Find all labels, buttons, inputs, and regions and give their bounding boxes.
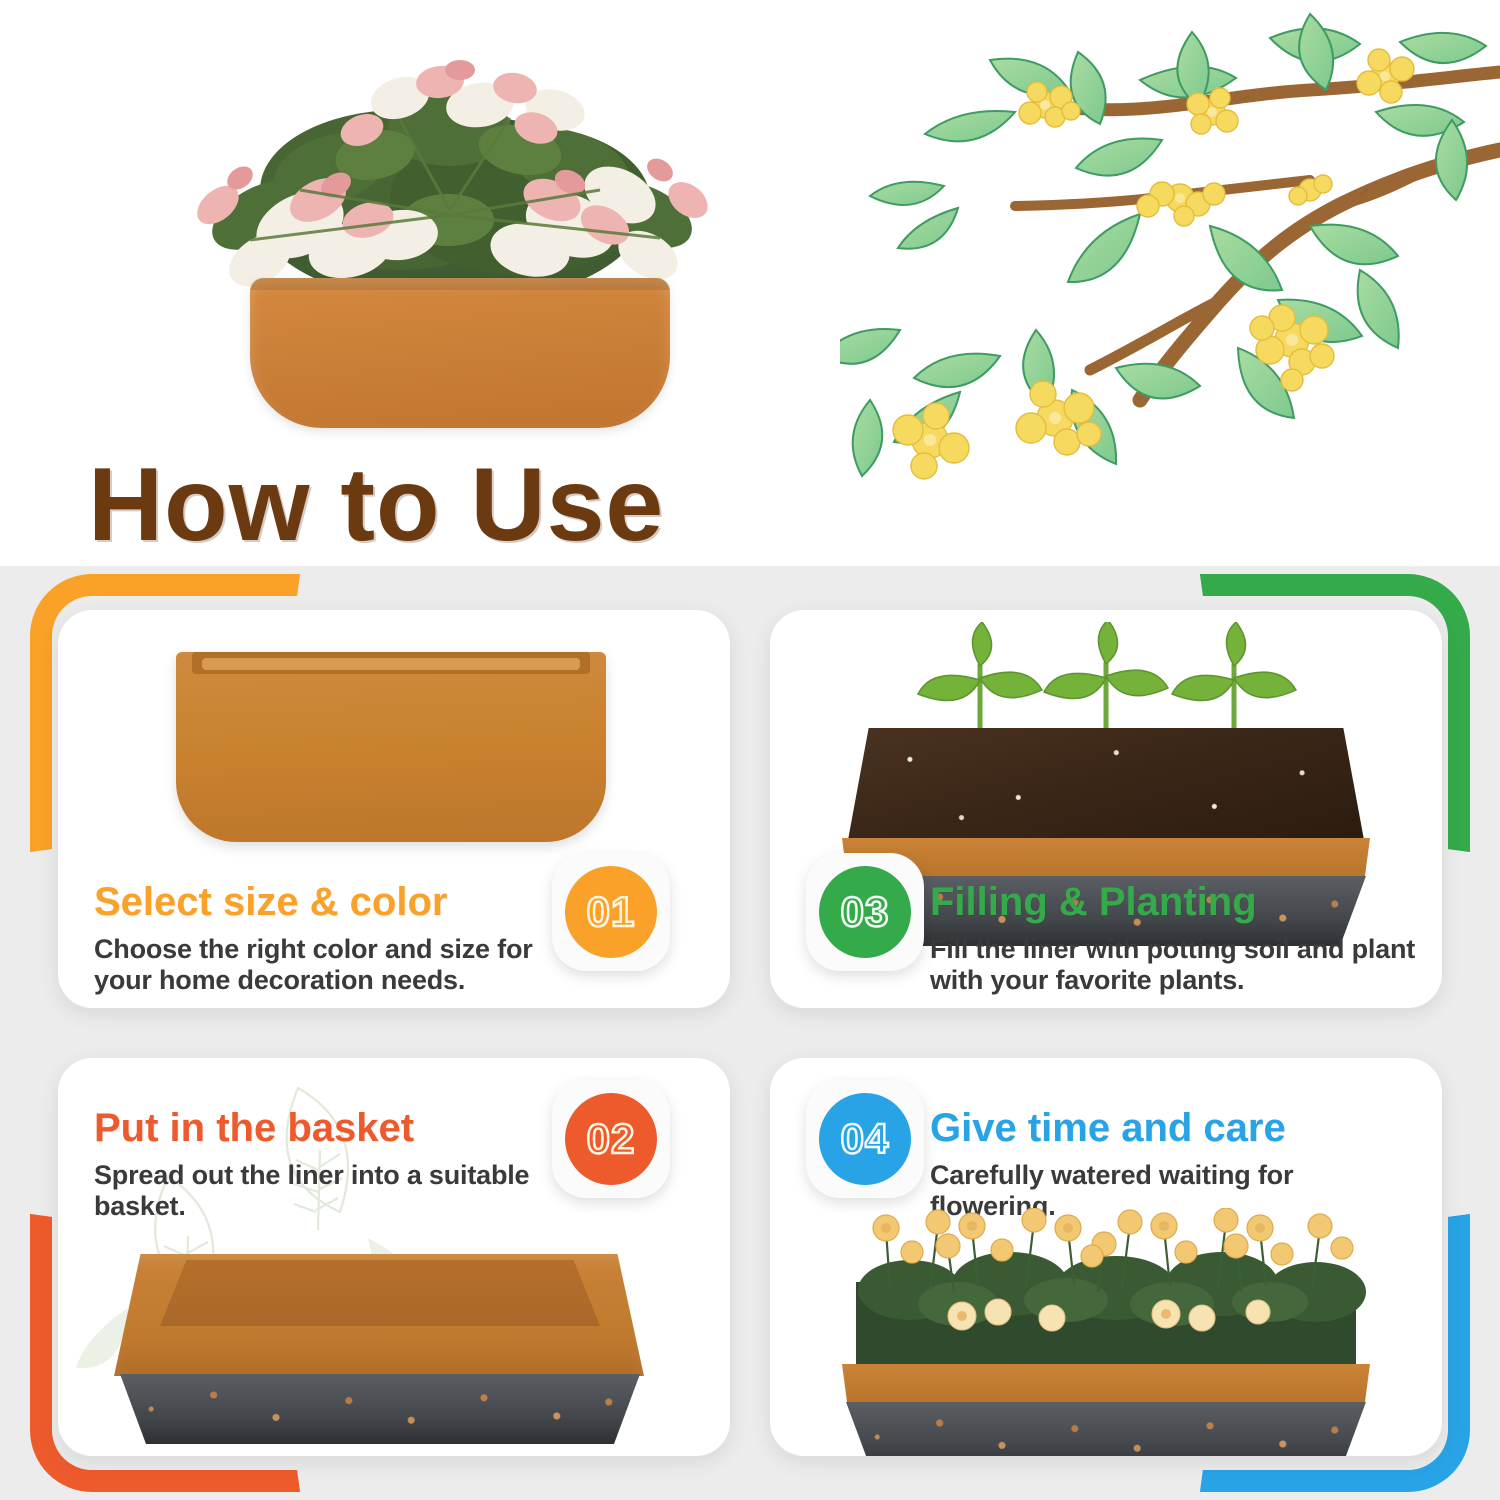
badge-number: 04 [841, 1115, 890, 1163]
infographic-page: How to Use 01 Select size & color Choose… [0, 0, 1500, 1500]
step-body-03: Fill the liner with potting soil and pla… [930, 934, 1425, 997]
liner-in-metal-basket-photo [114, 1254, 644, 1376]
roses-svg [830, 1208, 1382, 1388]
step-heading-03: Filling & Planting [930, 882, 1425, 922]
hero-planter-body [250, 278, 670, 428]
blooming-yellow-roses-photo [830, 1208, 1382, 1388]
metal-basket [120, 1374, 640, 1444]
potting-soil [848, 728, 1364, 840]
metal-basket [846, 1402, 1366, 1456]
step-badge-02: 02 [552, 1080, 670, 1198]
osmanthus-svg [840, 0, 1500, 480]
step-heading-01: Select size & color [94, 882, 564, 922]
page-title: How to Use [88, 446, 664, 565]
steps-grid: 01 Select size & color Choose the right … [0, 566, 1500, 1500]
step-card-04[interactable]: 04 Give time and care Carefully watered … [770, 1058, 1442, 1456]
step-body-01: Choose the right color and size for your… [94, 934, 564, 997]
step-text-03: Filling & Planting Fill the liner with p… [930, 882, 1425, 997]
hero-section: How to Use [0, 0, 1500, 566]
step-heading-02: Put in the basket [94, 1108, 564, 1148]
step-card-03[interactable]: 03 Filling & Planting Fill the liner wit… [770, 610, 1442, 1008]
step-card-01[interactable]: 01 Select size & color Choose the right … [58, 610, 730, 1008]
step-text-02: Put in the basket Spread out the liner i… [94, 1108, 564, 1223]
badge-number: 01 [587, 888, 636, 936]
liner-rim [842, 1364, 1370, 1404]
step-badge-04: 04 [806, 1080, 924, 1198]
badge-number: 02 [587, 1115, 636, 1163]
badge-disc: 01 [565, 866, 657, 958]
step-badge-01: 01 [552, 853, 670, 971]
step-badge-03: 03 [806, 853, 924, 971]
step-text-01: Select size & color Choose the right col… [94, 882, 564, 997]
empty-felt-liner-photo [176, 652, 606, 842]
hero-branch-illustration [840, 0, 1500, 480]
step-text-04: Give time and care Carefully watered wai… [930, 1108, 1425, 1223]
badge-disc: 04 [819, 1093, 911, 1185]
badge-disc: 03 [819, 866, 911, 958]
step-body-02: Spread out the liner into a suitable bas… [94, 1160, 564, 1223]
step-heading-04: Give time and care [930, 1108, 1425, 1148]
badge-disc: 02 [565, 1093, 657, 1185]
hero-planter-image [100, 10, 800, 440]
badge-number: 03 [841, 888, 890, 936]
step-card-02[interactable]: 02 Put in the basket Spread out the line… [58, 1058, 730, 1456]
